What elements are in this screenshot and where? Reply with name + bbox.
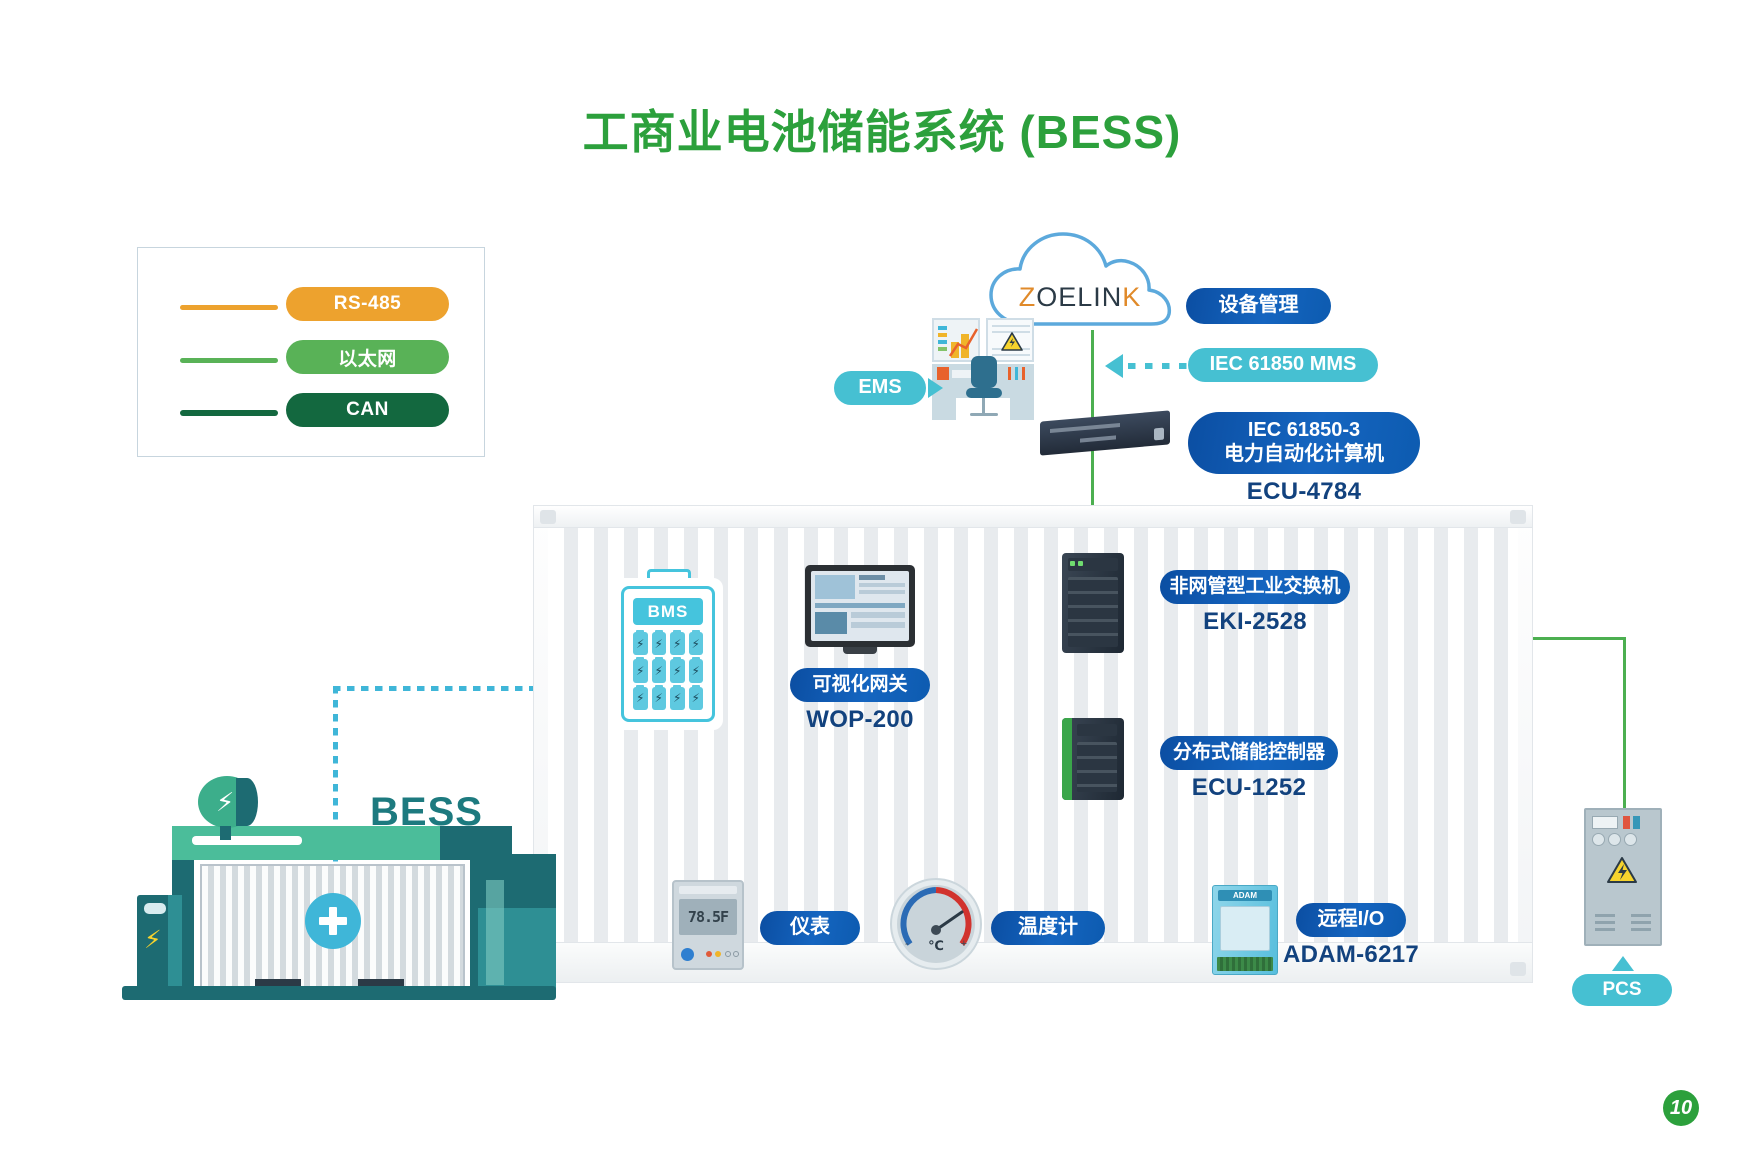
bolt-icon: ⚡	[144, 925, 162, 955]
wop-200-model: WOP-200	[790, 706, 930, 734]
battery-cell: ⚡	[652, 659, 667, 682]
adam-6217-module[interactable]: ADAM	[1212, 885, 1278, 975]
hmi-stand	[843, 647, 877, 654]
bolt-icon: ⚡	[689, 632, 704, 655]
meter-led-off	[733, 951, 739, 957]
eki-2528-label[interactable]: 非网管型工业交换机	[1160, 570, 1350, 604]
container-corner-lug	[1510, 510, 1526, 524]
ecu-1252-controller[interactable]	[1062, 718, 1124, 800]
bess-canopy-stripe	[192, 836, 302, 845]
ems-workstation-illustration	[932, 318, 1040, 423]
bolt-icon: ⚡	[652, 687, 667, 710]
bess-logo-post	[220, 826, 231, 840]
bms-cell-grid: ⚡ ⚡ ⚡ ⚡ ⚡ ⚡ ⚡ ⚡ ⚡ ⚡ ⚡ ⚡	[633, 632, 703, 710]
high-voltage-warning-icon	[1606, 856, 1638, 885]
thermometer-label[interactable]: 温度计	[991, 911, 1105, 945]
bolt-icon: ⚡	[689, 687, 704, 710]
wop-200-label[interactable]: 可视化网关	[790, 668, 930, 702]
bms-shell: BMS ⚡ ⚡ ⚡ ⚡ ⚡ ⚡ ⚡ ⚡ ⚡ ⚡ ⚡ ⚡	[613, 578, 723, 730]
adam-6217-model: ADAM-6217	[1280, 941, 1422, 969]
bolt-icon: ⚡	[633, 632, 648, 655]
pcs-arrow-icon	[1612, 956, 1634, 971]
meter-reading: 78.5F	[679, 899, 737, 935]
pcs-cabinet	[1584, 808, 1662, 946]
battery-cell: ⚡	[670, 687, 685, 710]
cloud-brand-middle: OELIN	[1036, 282, 1122, 312]
page-title: 工商业电池储能系统 (BESS)	[0, 96, 1764, 162]
battery-cell: ⚡	[689, 632, 704, 655]
legend-item-ethernet: 以太网	[138, 340, 484, 380]
chair-back	[971, 356, 997, 388]
iec-mms-dotted-line	[1128, 363, 1188, 369]
meter-device: 78.5F	[672, 880, 744, 970]
legend-item-rs485: RS-485	[138, 287, 484, 327]
adam-brand-label: ADAM	[1218, 890, 1272, 901]
battery-cell: ⚡	[689, 687, 704, 710]
dotted-link-horizontal	[333, 686, 533, 691]
cloud-brand-prefix: Z	[1019, 282, 1037, 312]
meter-led-off	[725, 951, 731, 957]
battery-cell: ⚡	[670, 632, 685, 655]
meter-label[interactable]: 仪表	[760, 911, 860, 945]
device-management-label[interactable]: 设备管理	[1186, 288, 1331, 324]
battery-cell: ⚡	[633, 632, 648, 655]
bess-logo-disc-shadow	[236, 778, 258, 826]
battery-cell: ⚡	[652, 687, 667, 710]
bolt-icon: ⚡	[670, 687, 685, 710]
bess-building-window	[486, 880, 504, 985]
legend-label-can: CAN	[286, 393, 449, 427]
chart-monitor-icon	[932, 318, 980, 362]
desk-leg	[1010, 398, 1034, 420]
bolt-icon: ⚡	[670, 632, 685, 655]
chair-post	[982, 398, 985, 414]
container-corner-lug	[1510, 962, 1526, 976]
meter-led-amber	[715, 951, 721, 957]
bolt-icon: ⚡	[633, 659, 648, 682]
eki-2528-model: EKI-2528	[1160, 608, 1350, 636]
gauge-dial	[890, 878, 982, 970]
alarm-monitor-icon	[986, 318, 1034, 362]
bess-plus-marker[interactable]	[305, 893, 361, 949]
bolt-icon: ⚡	[633, 687, 648, 710]
bolt-icon: ⚡	[652, 659, 667, 682]
cloud-brand-suffix: K	[1122, 282, 1141, 312]
meter-button[interactable]	[681, 948, 694, 961]
warning-triangle-icon	[1001, 332, 1023, 352]
ecu-1252-label[interactable]: 分布式储能控制器	[1160, 736, 1338, 770]
thermometer-plus: +	[961, 938, 967, 950]
ecu-4784-label-line1: IEC 61850-3	[1248, 419, 1360, 443]
legend-label-ethernet: 以太网	[286, 340, 449, 374]
ecu-4784-label-line2: 电力自动化计算机	[1224, 443, 1384, 467]
bolt-icon: ⚡	[216, 787, 234, 818]
bolt-icon: ⚡	[670, 659, 685, 682]
container-corner-lug	[540, 510, 556, 524]
ecu-1252-model: ECU-1252	[1160, 774, 1338, 802]
ems-label[interactable]: EMS	[834, 371, 926, 405]
legend-label-rs485: RS-485	[286, 287, 449, 321]
ecu-4784-device[interactable]	[1040, 416, 1170, 456]
thermometer-minus: -	[905, 938, 909, 950]
bolt-icon: ⚡	[652, 632, 667, 655]
ev-charger-screen	[144, 903, 166, 914]
ems-arrow-icon	[928, 378, 943, 398]
chair-seat	[966, 388, 1002, 398]
ecu-4784-label[interactable]: IEC 61850-3 电力自动化计算机	[1188, 412, 1420, 474]
ecu-4784-model: ECU-4784	[1188, 478, 1420, 506]
ev-charger-side	[168, 895, 182, 987]
battery-cell: ⚡	[633, 687, 648, 710]
battery-cell: ⚡	[689, 659, 704, 682]
legend-line-rs485	[180, 305, 278, 310]
iec-61850-mms-label[interactable]: IEC 61850 MMS	[1188, 348, 1378, 382]
legend-line-ethernet	[180, 358, 278, 363]
hmi-screen	[811, 571, 909, 641]
legend-box: RS-485 以太网 CAN	[137, 247, 485, 457]
meter-led-red	[706, 951, 712, 957]
eki-2528-switch[interactable]	[1062, 553, 1124, 653]
bess-ground	[122, 986, 556, 1000]
legend-line-can	[180, 410, 278, 416]
legend-item-can: CAN	[138, 393, 484, 433]
page-number-badge: 10	[1663, 1090, 1699, 1126]
link-pcs-vertical	[1623, 637, 1626, 817]
bms-label: BMS	[633, 598, 703, 625]
adam-terminal-block	[1217, 957, 1273, 971]
pcs-display	[1592, 816, 1618, 829]
chair-base	[970, 413, 998, 416]
bolt-icon: ⚡	[689, 659, 704, 682]
pcs-label[interactable]: PCS	[1572, 974, 1672, 1006]
battery-cell: ⚡	[652, 632, 667, 655]
bms-battery-rack: BMS ⚡ ⚡ ⚡ ⚡ ⚡ ⚡ ⚡ ⚡ ⚡ ⚡ ⚡ ⚡	[613, 578, 723, 730]
iec-mms-arrow-icon	[1105, 354, 1123, 378]
bms-inner-frame: BMS ⚡ ⚡ ⚡ ⚡ ⚡ ⚡ ⚡ ⚡ ⚡ ⚡ ⚡ ⚡	[621, 586, 715, 722]
battery-cell: ⚡	[633, 659, 648, 682]
container-top-rail	[534, 506, 1532, 528]
wop-200-hmi-panel[interactable]	[805, 565, 915, 647]
desk-leg	[932, 398, 956, 420]
cloud-brand-label: ZOELINK	[985, 282, 1175, 313]
battery-cell: ⚡	[670, 659, 685, 682]
thermometer-unit: ℃	[890, 938, 982, 954]
thermometer-gauge: ℃ - +	[890, 878, 982, 970]
remote-io-label[interactable]: 远程I/O	[1296, 903, 1406, 937]
